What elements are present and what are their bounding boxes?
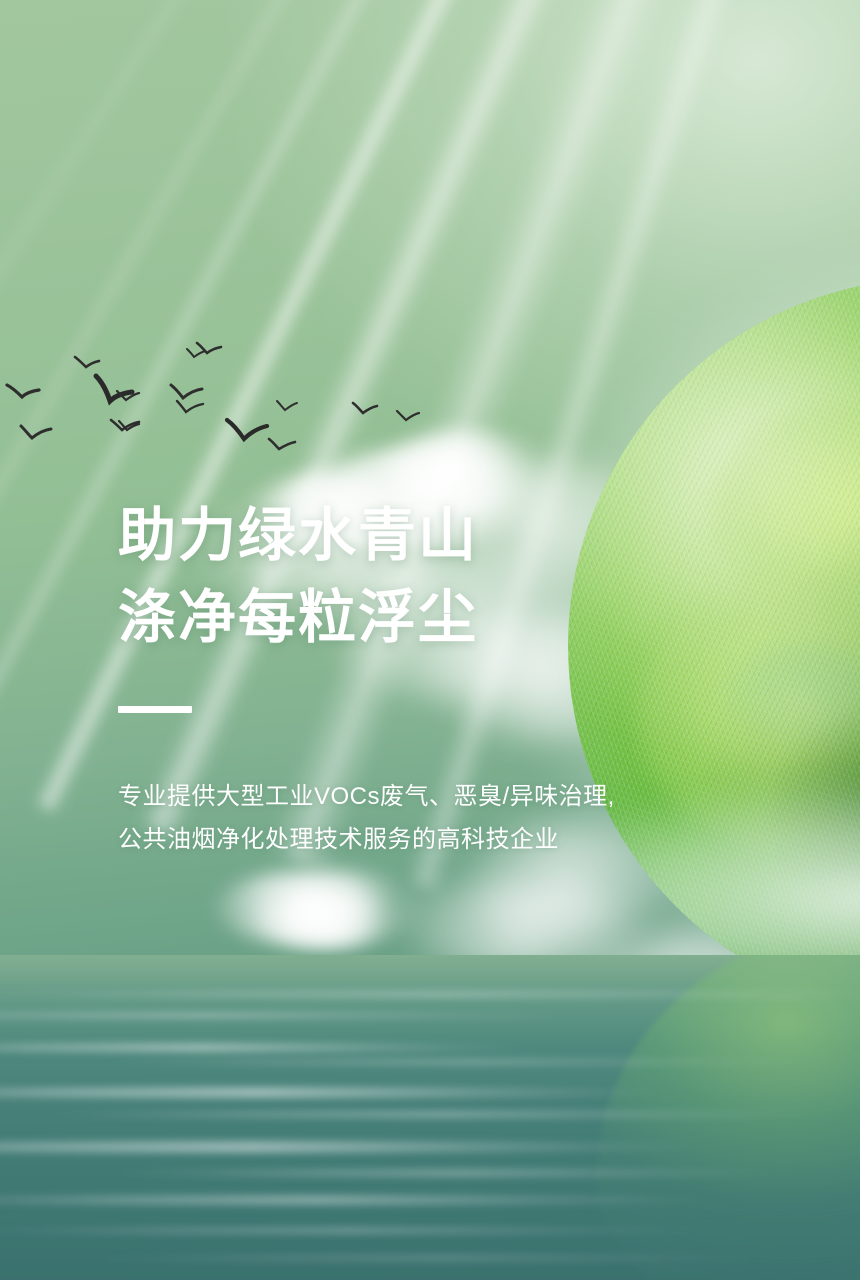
water-wave bbox=[0, 991, 860, 998]
water-wave bbox=[0, 1043, 533, 1052]
subtitle-line-2: 公共油烟净化处理技术服务的高科技企业 bbox=[118, 818, 738, 862]
water-wave bbox=[69, 1255, 791, 1261]
subtitle-line-1: 专业提供大型工业VOCs废气、恶臭/异味治理, bbox=[118, 775, 738, 819]
hero-subtitle: 专业提供大型工业VOCs废气、恶臭/异味治理, 公共油烟净化处理技术服务的高科技… bbox=[118, 775, 738, 862]
title-divider bbox=[118, 706, 192, 713]
hero-text-block: 助力绿水青山 涤净每粒浮尘 专业提供大型工业VOCs废气、恶臭/异味治理, 公共… bbox=[118, 495, 738, 862]
water-wave bbox=[34, 1111, 825, 1118]
water-wave bbox=[103, 1169, 791, 1177]
water-wave bbox=[86, 1059, 826, 1065]
poster-canvas: 助力绿水青山 涤净每粒浮尘 专业提供大型工业VOCs废气、恶臭/异味治理, 公共… bbox=[0, 0, 860, 1280]
water-surface bbox=[0, 955, 860, 1280]
headline-line-1: 助力绿水青山 bbox=[118, 495, 738, 577]
page-title: 助力绿水青山 涤净每粒浮尘 bbox=[118, 495, 738, 660]
water-wave bbox=[0, 1087, 671, 1098]
headline-line-2: 涤净每粒浮尘 bbox=[118, 577, 738, 659]
